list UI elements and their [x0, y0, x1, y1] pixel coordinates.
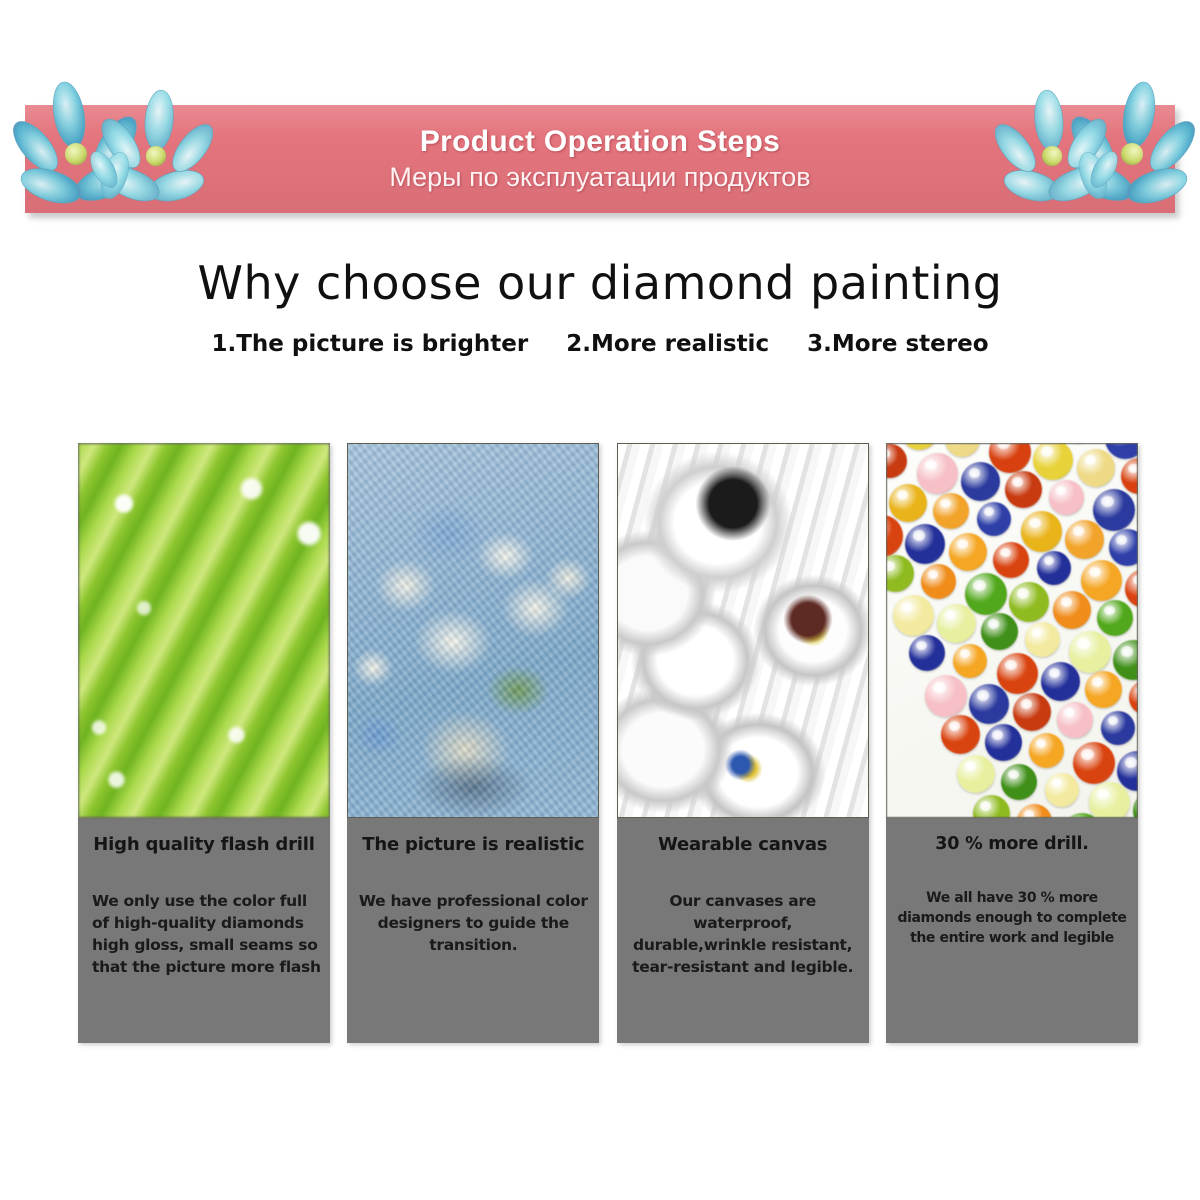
rhinestone-bead — [1069, 631, 1111, 673]
rhinestone-bead — [1053, 591, 1091, 629]
rhinestone-bead — [981, 613, 1018, 650]
rhinestone-bead — [909, 635, 945, 671]
rhinestone-bead — [1001, 764, 1037, 800]
rhinestone-bead — [949, 533, 987, 571]
feature-panel[interactable]: The picture is realistic We have profess… — [347, 443, 599, 1043]
page-title: Why choose our diamond painting — [0, 258, 1200, 309]
rhinestone-bead — [1077, 449, 1115, 487]
rhinestone-bead — [957, 755, 995, 793]
feature-caption: High quality flash drill We only use the… — [78, 818, 330, 1043]
rhinestone-bead — [933, 493, 969, 529]
rhinestone-bead — [1065, 520, 1104, 559]
rhinestone-bead — [921, 564, 956, 599]
rhinestone-bead — [953, 644, 987, 678]
rhinestone-bead — [886, 444, 907, 478]
feature-panel[interactable]: Wearable canvas Our canvases are waterpr… — [617, 443, 869, 1043]
floral-vase-painting-photo — [347, 443, 599, 818]
rhinestone-bead — [1021, 511, 1062, 552]
rhinestone-bead — [1073, 742, 1115, 784]
blue-flower-icon — [975, 74, 1200, 224]
feature-caption: Wearable canvas Our canvases are waterpr… — [617, 818, 869, 1043]
rhinestone-bead — [1101, 711, 1135, 745]
feature-caption: 30 % more drill. We all have 30 % more d… — [886, 818, 1138, 1043]
rhinestone-bead — [977, 502, 1011, 536]
rhinestone-bead — [945, 443, 980, 457]
feature-body: We all have 30 % more diamonds enough to… — [894, 889, 1130, 949]
rhinestone-bead — [1057, 702, 1093, 738]
benefit-item-1: 1.The picture is brighter — [211, 331, 528, 357]
rhinestone-bead — [917, 453, 958, 494]
rhinestone-bead — [1033, 443, 1073, 480]
benefit-item-2: 2.More realistic — [566, 331, 769, 357]
rhinestone-bead — [1133, 791, 1138, 818]
rhinestone-bead — [997, 653, 1038, 694]
rhinestone-bead — [969, 684, 1009, 724]
rhinestone-bead — [886, 555, 914, 592]
banner-subtitle: Меры по эксплуатации продуктов — [389, 161, 810, 193]
rhinestone-bead — [973, 795, 1010, 818]
rhinestone-bead — [1009, 582, 1049, 622]
rhinestone-bead — [893, 595, 934, 636]
feature-body: We only use the color full of high-quali… — [86, 890, 322, 978]
feature-panel-grid: High quality flash drill We only use the… — [78, 443, 1138, 1043]
rhinestone-bead — [1017, 804, 1052, 818]
feature-body: Our canvases are waterproof, durable,wri… — [625, 890, 861, 978]
rhinestone-bead — [1121, 458, 1138, 494]
feature-panel[interactable]: 30 % more drill. We all have 30 % more d… — [886, 443, 1138, 1043]
rhinestone-bead — [1109, 529, 1138, 566]
rhinestone-bead — [905, 524, 945, 564]
banner-section: Product Operation Steps Меры по эксплуат… — [0, 0, 1200, 260]
rhinestone-bead — [1093, 489, 1135, 531]
rhinestone-bead — [1037, 551, 1071, 585]
rhinestone-bead — [1113, 640, 1138, 680]
rhinestone-bead — [1129, 680, 1138, 715]
rhinestone-bead — [886, 515, 903, 557]
feature-title: Wearable canvas — [625, 834, 861, 856]
rhinestone-bead — [901, 443, 938, 450]
rolled-canvas-photo — [617, 443, 869, 818]
rhinestone-bead — [1029, 733, 1064, 768]
feature-panel[interactable]: High quality flash drill We only use the… — [78, 443, 330, 1043]
rhinestone-bead — [925, 675, 967, 717]
benefit-item-3: 3.More stereo — [807, 331, 988, 357]
feature-caption: The picture is realistic We have profess… — [347, 818, 599, 1043]
rhinestone-bead — [1137, 498, 1138, 538]
rhinestone-bead — [1025, 622, 1060, 657]
feature-body: We have professional color designers to … — [355, 890, 591, 956]
rhinestone-bead — [1097, 600, 1133, 636]
banner-title: Product Operation Steps — [420, 125, 780, 160]
rhinestone-bead — [889, 484, 927, 522]
rhinestone-bead — [961, 462, 1000, 501]
rhinestone-bead — [1089, 782, 1130, 818]
rhinestone-bead — [1005, 471, 1042, 508]
rhinestone-bead — [1045, 773, 1079, 807]
rhinestone-bead — [1041, 662, 1080, 701]
rhinestone-bead — [941, 715, 980, 754]
heading-section: Why choose our diamond painting 1.The pi… — [0, 258, 1200, 357]
blue-flower-icon — [8, 74, 233, 224]
rhinestone-bead — [965, 573, 1007, 615]
rhinestone-bead — [1081, 560, 1122, 601]
rhinestone-bead — [985, 724, 1022, 761]
benefit-list: 1.The picture is brighter 2.More realist… — [0, 331, 1200, 357]
rhinestone-bead — [993, 542, 1029, 578]
rhinestone-bead — [1013, 693, 1051, 731]
colored-rhinestone-drills-photo — [886, 443, 1138, 818]
rhinestone-bead — [937, 604, 976, 643]
green-diamond-drills-photo — [78, 443, 330, 818]
rhinestone-bead — [1125, 569, 1138, 608]
feature-title: The picture is realistic — [355, 834, 591, 856]
feature-title: High quality flash drill — [86, 834, 322, 856]
feature-title: 30 % more drill. — [894, 834, 1130, 855]
rhinestone-bead — [1085, 671, 1122, 708]
rhinestone-bead — [1049, 480, 1084, 515]
